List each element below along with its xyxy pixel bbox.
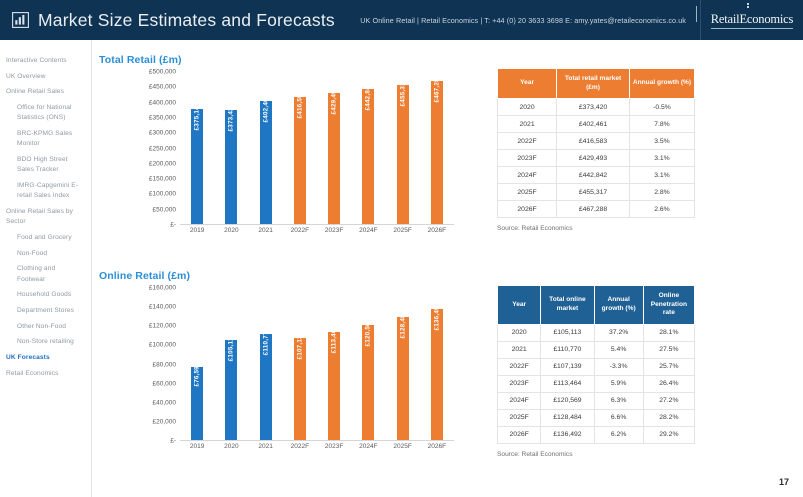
total-retail-y-tick: £400,000 bbox=[149, 99, 176, 106]
total-retail-bar-group: £467,288 bbox=[421, 72, 453, 224]
online-retail-bar-label: £107,139 bbox=[296, 331, 303, 359]
section-title-total-retail: Total Retail (£m) bbox=[99, 54, 182, 66]
table-row: 2022F£416,5833.5% bbox=[498, 133, 695, 150]
total-retail-bar-group: £416,583 bbox=[284, 72, 316, 224]
total-retail-x-tick: 2020 bbox=[216, 227, 248, 241]
total-retail-x-tick: 2022F bbox=[284, 227, 316, 241]
source-note-online: Source: Retail Economics bbox=[497, 451, 695, 458]
online-retail-bar: £128,484 bbox=[397, 317, 409, 440]
table-row: 2021£402,4617.8% bbox=[498, 116, 695, 133]
total-retail-bar-group: £373,420 bbox=[216, 72, 248, 224]
total-retail-y-tick: £150,000 bbox=[149, 176, 176, 183]
table-cell: £120,569 bbox=[541, 392, 594, 409]
column-header: Total online market bbox=[541, 286, 594, 325]
table-cell: -3.3% bbox=[594, 358, 643, 375]
online-retail-bar-label: £76,595 bbox=[194, 362, 201, 386]
sidebar-item-online-retail-sales-by-sector[interactable]: Online Retail Sales by Sector bbox=[6, 207, 85, 227]
sidebar-item-household-goods[interactable]: Household Goods bbox=[6, 290, 85, 300]
total-retail-table-body: 2020£373,420-0.5%2021£402,4617.8%2022F£4… bbox=[498, 99, 695, 218]
table-cell: 2021 bbox=[498, 341, 541, 358]
table-cell: 2026F bbox=[498, 201, 557, 218]
online-retail-table-body: 2020£105,11337.2%28.1%2021£110,7705.4%27… bbox=[498, 324, 695, 443]
online-retail-y-tick: £40,000 bbox=[153, 399, 177, 406]
table-cell: 3.1% bbox=[629, 167, 694, 184]
total-retail-x-tick: 2024F bbox=[353, 227, 385, 241]
table-online-retail: YearTotal online marketAnnual growth (%)… bbox=[497, 285, 695, 458]
online-retail-bar: £113,464 bbox=[328, 332, 340, 440]
table-cell: 2023F bbox=[498, 375, 541, 392]
total-retail-bar: £402,461 bbox=[260, 101, 272, 224]
online-retail-y-tick: £20,000 bbox=[153, 418, 177, 425]
column-header: Annual growth (%) bbox=[594, 286, 643, 325]
total-retail-bar-group: £455,317 bbox=[387, 72, 419, 224]
source-note-total: Source: Retail Economics bbox=[497, 225, 695, 232]
sidebar-item-retail-economics[interactable]: Retail Economics bbox=[6, 369, 85, 379]
sidebar-item-brc-kpmg-sales-monitor[interactable]: BRC-KPMG Sales Monitor bbox=[6, 129, 85, 149]
total-retail-y-tick: £350,000 bbox=[149, 114, 176, 121]
table-cell: 3.1% bbox=[629, 150, 694, 167]
online-retail-y-tick: £140,000 bbox=[149, 304, 176, 311]
total-retail-bar-label: £375,147 bbox=[194, 103, 201, 131]
table-row: 2025F£128,4846.6%28.2% bbox=[498, 409, 695, 426]
table-cell: 2023F bbox=[498, 150, 557, 167]
total-retail-bar: £442,842 bbox=[362, 89, 374, 225]
online-retail-bar: £120,569 bbox=[362, 325, 374, 440]
online-retail-bar-label: £110,770 bbox=[262, 328, 269, 356]
table-row: 2026F£467,2882.6% bbox=[498, 201, 695, 218]
chart-online-plot-area: £76,595£105,113£110,770£107,139£113,464£… bbox=[180, 288, 454, 441]
table-cell: 2024F bbox=[498, 167, 557, 184]
chart-total-retail: £500,000£450,000£400,000£350,000£300,000… bbox=[122, 72, 462, 257]
online-retail-bar-label: £113,464 bbox=[331, 325, 338, 353]
table-row: 2026F£136,4926.2%29.2% bbox=[498, 426, 695, 443]
table-row: 2022F£107,139-3.3%25.7% bbox=[498, 358, 695, 375]
table-cell: £113,464 bbox=[541, 375, 594, 392]
online-retail-bar-label: £136,492 bbox=[433, 303, 440, 331]
sidebar-item-online-retail-sales[interactable]: Online Retail Sales bbox=[6, 87, 85, 97]
total-retail-y-tick: £200,000 bbox=[149, 160, 176, 167]
chart-online-retail: £160,000£140,000£120,000£100,000£80,000£… bbox=[122, 288, 462, 473]
online-retail-bar-group: £120,569 bbox=[353, 288, 385, 440]
table-cell: £429,493 bbox=[557, 150, 630, 167]
table-cell: 2.8% bbox=[629, 184, 694, 201]
sidebar-item-food-and-grocery[interactable]: Food and Grocery bbox=[6, 233, 85, 243]
total-retail-bar-group: £375,147 bbox=[181, 72, 213, 224]
table-cell: 37.2% bbox=[594, 324, 643, 341]
online-retail-x-tick: 2022F bbox=[284, 443, 316, 457]
sidebar-item-non-food[interactable]: Non-Food bbox=[6, 249, 85, 259]
table-cell: 28.2% bbox=[643, 409, 694, 426]
table-cell: 3.5% bbox=[629, 133, 694, 150]
online-retail-bar: £76,595 bbox=[191, 367, 203, 440]
online-retail-table: YearTotal online marketAnnual growth (%)… bbox=[497, 285, 695, 444]
table-row: 2024F£120,5696.3%27.2% bbox=[498, 392, 695, 409]
total-retail-bar: £375,147 bbox=[191, 109, 203, 224]
chart-total-plot-area: £375,147£373,420£402,461£416,583£429,493… bbox=[180, 72, 454, 225]
column-header: Annual growth (%) bbox=[629, 69, 694, 99]
total-retail-y-tick: £500,000 bbox=[149, 69, 176, 76]
online-retail-bar-group: £110,770 bbox=[250, 288, 282, 440]
table-cell: 2025F bbox=[498, 184, 557, 201]
table-row: 2021£110,7705.4%27.5% bbox=[498, 341, 695, 358]
table-cell: 6.6% bbox=[594, 409, 643, 426]
total-retail-bar: £467,288 bbox=[431, 81, 443, 224]
online-retail-x-tick: 2020 bbox=[216, 443, 248, 457]
total-retail-bar-group: £402,461 bbox=[250, 72, 282, 224]
online-retail-bar: £107,139 bbox=[294, 338, 306, 440]
total-retail-x-tick: 2021 bbox=[250, 227, 282, 241]
logo-dots-decoration bbox=[747, 3, 749, 9]
total-retail-bar-label: £429,493 bbox=[331, 86, 338, 114]
total-retail-x-tick: 2019 bbox=[181, 227, 213, 241]
chart-total-y-axis: £500,000£450,000£400,000£350,000£300,000… bbox=[122, 72, 180, 225]
table-cell: 2020 bbox=[498, 324, 541, 341]
retail-economics-logo: RetailEconomics bbox=[700, 0, 803, 40]
section-title-online-retail: Online Retail (£m) bbox=[99, 270, 190, 282]
table-row: 2020£373,420-0.5% bbox=[498, 99, 695, 116]
table-cell: 29.2% bbox=[643, 426, 694, 443]
chart-online-x-axis: 2019202020212022F2023F2024F2025F2026F bbox=[180, 443, 454, 457]
online-retail-bar-group: £113,464 bbox=[318, 288, 350, 440]
online-retail-y-tick: £160,000 bbox=[149, 285, 176, 292]
sidebar-item-interactive-contents[interactable]: Interactive Contents bbox=[6, 56, 85, 66]
online-retail-bar-group: £76,595 bbox=[181, 288, 213, 440]
table-cell: 2022F bbox=[498, 358, 541, 375]
table-cell: £467,288 bbox=[557, 201, 630, 218]
online-retail-bar-group: £136,492 bbox=[421, 288, 453, 440]
table-cell: £402,461 bbox=[557, 116, 630, 133]
total-retail-bar-label: £467,288 bbox=[433, 75, 440, 103]
total-retail-x-tick: 2023F bbox=[318, 227, 350, 241]
online-retail-table-head: YearTotal online marketAnnual growth (%)… bbox=[498, 286, 695, 325]
table-cell: 6.3% bbox=[594, 392, 643, 409]
table-cell: -0.5% bbox=[629, 99, 694, 116]
total-retail-y-tick: £- bbox=[170, 222, 176, 229]
total-retail-bar: £429,493 bbox=[328, 93, 340, 224]
sidebar-item-other-non-food[interactable]: Other Non-Food bbox=[6, 322, 85, 332]
sidebar-item-non-store-retailing[interactable]: Non-Store retailing bbox=[6, 337, 85, 347]
table-cell: 5.4% bbox=[594, 341, 643, 358]
sidebar-item-uk-forecasts[interactable]: UK Forecasts bbox=[6, 353, 85, 363]
column-header: Total retail market (£m) bbox=[557, 69, 630, 99]
online-retail-x-tick: 2021 bbox=[250, 443, 282, 457]
sidebar-item-uk-overview[interactable]: UK Overview bbox=[6, 72, 85, 82]
table-cell: £442,842 bbox=[557, 167, 630, 184]
header-left: Market Size Estimates and Forecasts bbox=[0, 10, 335, 31]
table-cell: 2021 bbox=[498, 116, 557, 133]
table-row: 2020£105,11337.2%28.1% bbox=[498, 324, 695, 341]
table-cell: £373,420 bbox=[557, 99, 630, 116]
total-retail-bar: £455,317 bbox=[397, 85, 409, 224]
table-cell: £455,317 bbox=[557, 184, 630, 201]
table-row: 2023F£429,4933.1% bbox=[498, 150, 695, 167]
page-title: Market Size Estimates and Forecasts bbox=[38, 10, 335, 31]
table-total-retail: YearTotal retail market (£m)Annual growt… bbox=[497, 68, 695, 232]
online-retail-y-tick: £100,000 bbox=[149, 342, 176, 349]
table-row: 2023F£113,4645.9%26.4% bbox=[498, 375, 695, 392]
table-cell: 6.2% bbox=[594, 426, 643, 443]
main-content: Total Retail (£m) £500,000£450,000£400,0… bbox=[92, 40, 803, 497]
total-retail-bar-label: £442,842 bbox=[365, 82, 372, 110]
chart-online-y-axis: £160,000£140,000£120,000£100,000£80,000£… bbox=[122, 288, 180, 441]
sidebar-item-department-stores[interactable]: Department Stores bbox=[6, 306, 85, 316]
online-retail-bar-group: £107,139 bbox=[284, 288, 316, 440]
page-number: 17 bbox=[779, 477, 789, 487]
total-retail-y-tick: £450,000 bbox=[149, 84, 176, 91]
column-header: Year bbox=[498, 69, 557, 99]
table-header-row: YearTotal online marketAnnual growth (%)… bbox=[498, 286, 695, 325]
table-cell: £110,770 bbox=[541, 341, 594, 358]
table-cell: 7.8% bbox=[629, 116, 694, 133]
table-cell: £136,492 bbox=[541, 426, 594, 443]
online-retail-y-tick: £120,000 bbox=[149, 323, 176, 330]
slide-page: Market Size Estimates and Forecasts UK O… bbox=[0, 0, 803, 497]
table-cell: 27.5% bbox=[643, 341, 694, 358]
online-retail-y-tick: £60,000 bbox=[153, 380, 177, 387]
sidebar-item-clothing-and-footwear[interactable]: Clothing and Footwear bbox=[6, 264, 85, 284]
table-cell: 26.4% bbox=[643, 375, 694, 392]
logo-text: RetailEconomics bbox=[711, 12, 793, 29]
table-header-row: YearTotal retail market (£m)Annual growt… bbox=[498, 69, 695, 99]
table-cell: 2026F bbox=[498, 426, 541, 443]
total-retail-bar-label: £455,317 bbox=[399, 78, 406, 106]
page-header: Market Size Estimates and Forecasts UK O… bbox=[0, 0, 803, 40]
total-retail-y-tick: £250,000 bbox=[149, 145, 176, 152]
total-retail-bar: £416,583 bbox=[294, 97, 306, 224]
online-retail-bar-label: £105,113 bbox=[228, 333, 235, 361]
table-cell: 25.7% bbox=[643, 358, 694, 375]
online-retail-bar: £110,770 bbox=[260, 334, 272, 440]
logo-bar-decoration bbox=[696, 6, 697, 22]
column-header: Year bbox=[498, 286, 541, 325]
table-cell: 27.2% bbox=[643, 392, 694, 409]
table-cell: 28.1% bbox=[643, 324, 694, 341]
total-retail-bar-group: £442,842 bbox=[353, 72, 385, 224]
total-retail-x-tick: 2025F bbox=[387, 227, 419, 241]
total-retail-x-tick: 2026F bbox=[421, 227, 453, 241]
bar-chart-icon bbox=[12, 12, 29, 28]
online-retail-x-tick: 2026F bbox=[421, 443, 453, 457]
total-retail-bar: £373,420 bbox=[225, 110, 237, 224]
sidebar-nav: Interactive ContentsUK OverviewOnline Re… bbox=[0, 40, 92, 497]
online-retail-bar-group: £105,113 bbox=[216, 288, 248, 440]
chart-total-x-axis: 2019202020212022F2023F2024F2025F2026F bbox=[180, 227, 454, 241]
online-retail-bar-label: £128,484 bbox=[399, 311, 406, 339]
online-retail-x-tick: 2019 bbox=[181, 443, 213, 457]
table-cell: 2.6% bbox=[629, 201, 694, 218]
total-retail-y-tick: £100,000 bbox=[149, 191, 176, 198]
online-retail-bar-group: £128,484 bbox=[387, 288, 419, 440]
online-retail-x-tick: 2025F bbox=[387, 443, 419, 457]
sidebar-item-bdo-high-street-sales-tracker[interactable]: BDO High Street Sales Tracker bbox=[6, 155, 85, 175]
table-cell: 2024F bbox=[498, 392, 541, 409]
sidebar-item-imrg-capgemini-e-retail-sales-index[interactable]: IMRG-Capgemini E-retail Sales Index bbox=[6, 181, 85, 201]
table-row: 2024F£442,8423.1% bbox=[498, 167, 695, 184]
total-retail-y-tick: £300,000 bbox=[149, 130, 176, 137]
table-cell: £105,113 bbox=[541, 324, 594, 341]
online-retail-x-tick: 2023F bbox=[318, 443, 350, 457]
online-retail-x-tick: 2024F bbox=[353, 443, 385, 457]
table-cell: £128,484 bbox=[541, 409, 594, 426]
total-retail-y-tick: £50,000 bbox=[153, 206, 177, 213]
table-cell: £416,583 bbox=[557, 133, 630, 150]
online-retail-y-tick: £- bbox=[170, 438, 176, 445]
online-retail-bar-label: £120,569 bbox=[365, 318, 372, 346]
total-retail-bar-group: £429,493 bbox=[318, 72, 350, 224]
table-cell: 2020 bbox=[498, 99, 557, 116]
table-cell: 2022F bbox=[498, 133, 557, 150]
table-row: 2025F£455,3172.8% bbox=[498, 184, 695, 201]
total-retail-bar-label: £402,461 bbox=[262, 94, 269, 122]
column-header: Online Penetration rate bbox=[643, 286, 694, 325]
total-retail-bar-label: £416,583 bbox=[296, 90, 303, 118]
table-cell: 2025F bbox=[498, 409, 541, 426]
contact-info: UK Online Retail | Retail Economics | T:… bbox=[360, 16, 686, 25]
header-contact-area: UK Online Retail | Retail Economics | T:… bbox=[335, 16, 700, 25]
table-cell: 5.9% bbox=[594, 375, 643, 392]
online-retail-y-tick: £80,000 bbox=[153, 361, 177, 368]
sidebar-item-office-for-national-statistics-ons[interactable]: Office for National Statistics (ONS) bbox=[6, 103, 85, 123]
online-retail-bar: £105,113 bbox=[225, 340, 237, 441]
total-retail-table-head: YearTotal retail market (£m)Annual growt… bbox=[498, 69, 695, 99]
online-retail-bar: £136,492 bbox=[431, 309, 443, 440]
total-retail-bar-label: £373,420 bbox=[228, 103, 235, 131]
total-retail-table: YearTotal retail market (£m)Annual growt… bbox=[497, 68, 695, 218]
table-cell: £107,139 bbox=[541, 358, 594, 375]
